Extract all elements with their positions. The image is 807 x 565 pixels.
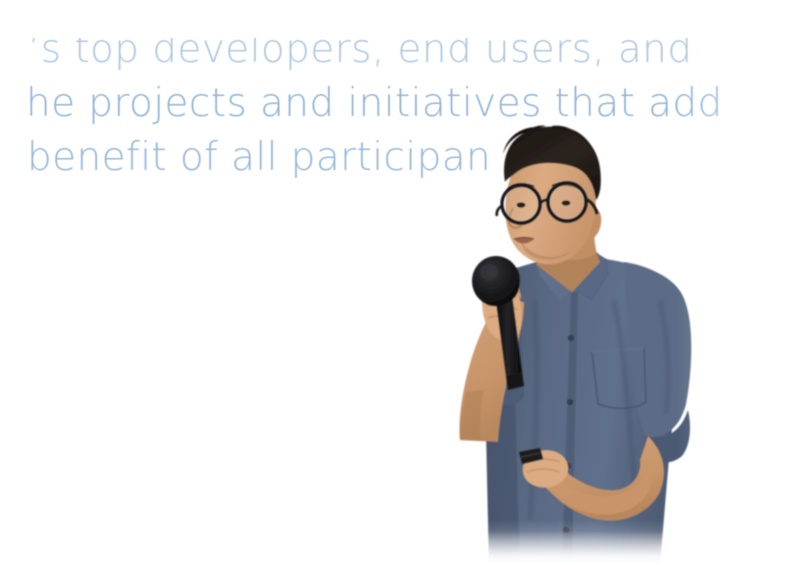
speaker-figure	[0, 0, 807, 565]
presentation-photo: ’s top developers, end users, and he pro…	[0, 0, 807, 565]
